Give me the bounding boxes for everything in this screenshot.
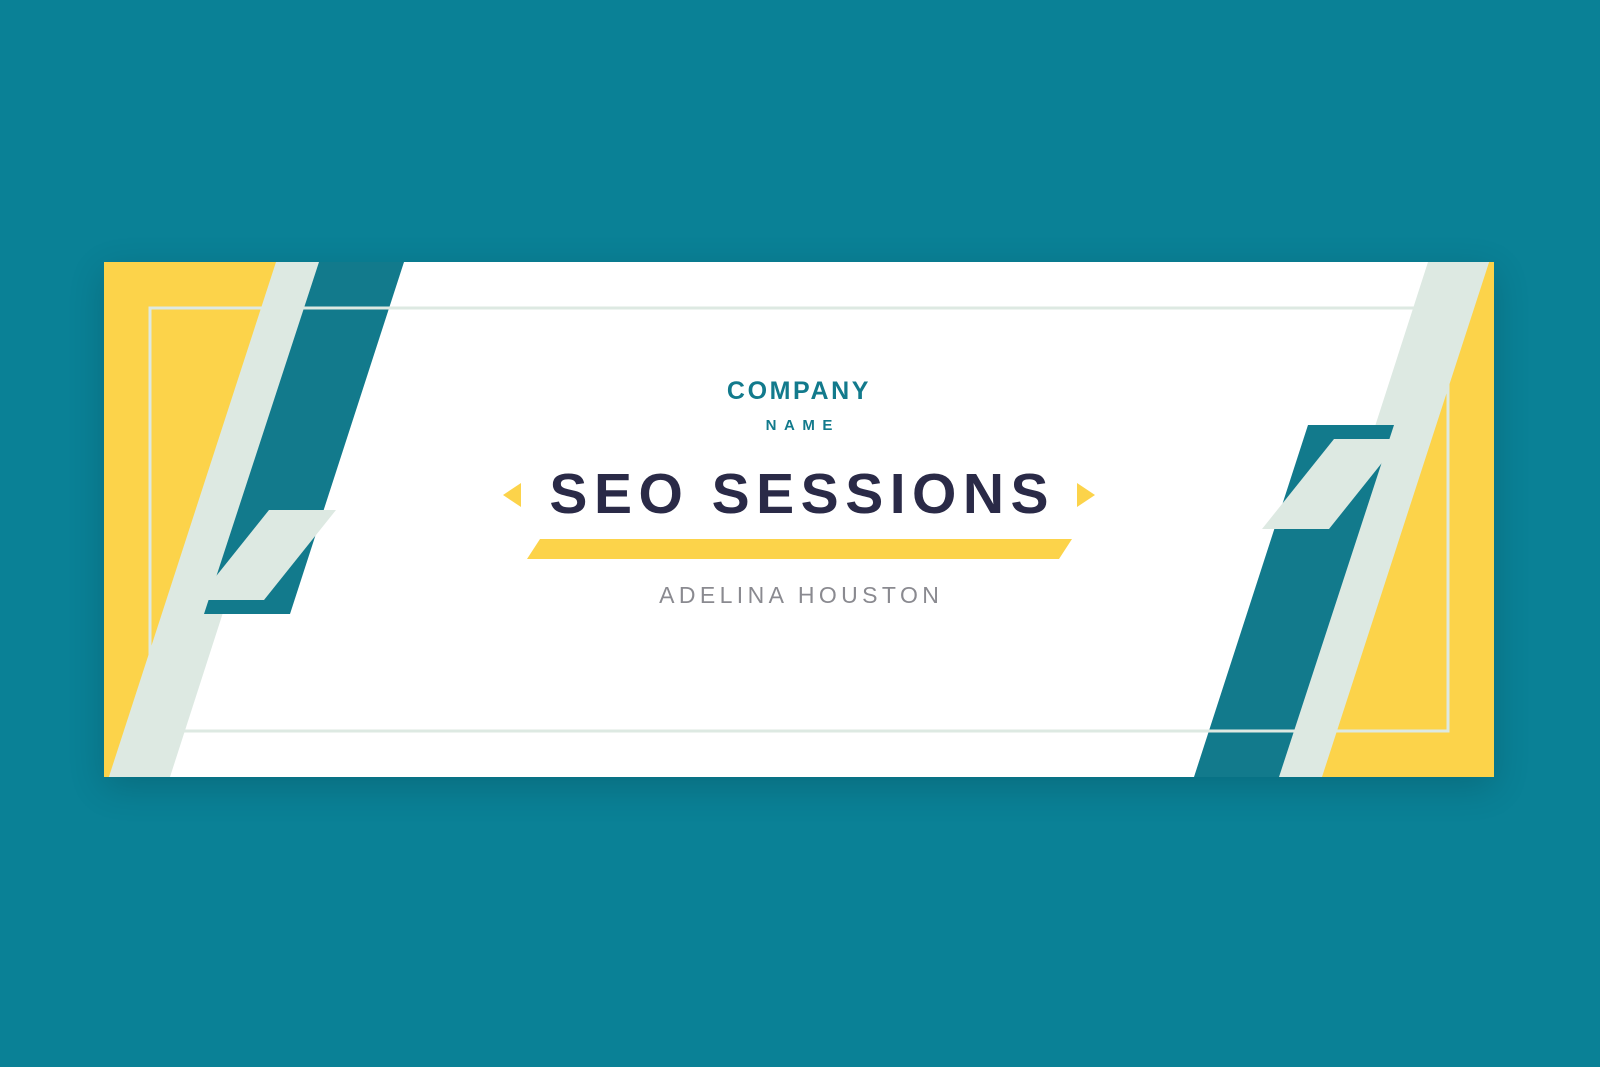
company-name-line1: COMPANY [727, 379, 871, 404]
company-name-line2: NAME [758, 418, 840, 433]
banner-canvas: COMPANY NAME SEO SESSIONS ADELINA HOUSTO… [0, 0, 1600, 1067]
title-underline [527, 539, 1072, 559]
triangle-left-icon [503, 483, 521, 507]
banner-title: SEO SESSIONS [543, 466, 1055, 523]
speaker-name: ADELINA HOUSTON [655, 584, 944, 607]
banner-card: COMPANY NAME SEO SESSIONS ADELINA HOUSTO… [104, 262, 1494, 777]
slanted-underline-bar-icon [527, 539, 1072, 559]
triangle-right-icon [1077, 483, 1095, 507]
banner-content: COMPANY NAME SEO SESSIONS ADELINA HOUSTO… [104, 262, 1494, 777]
title-row: SEO SESSIONS [503, 466, 1095, 523]
